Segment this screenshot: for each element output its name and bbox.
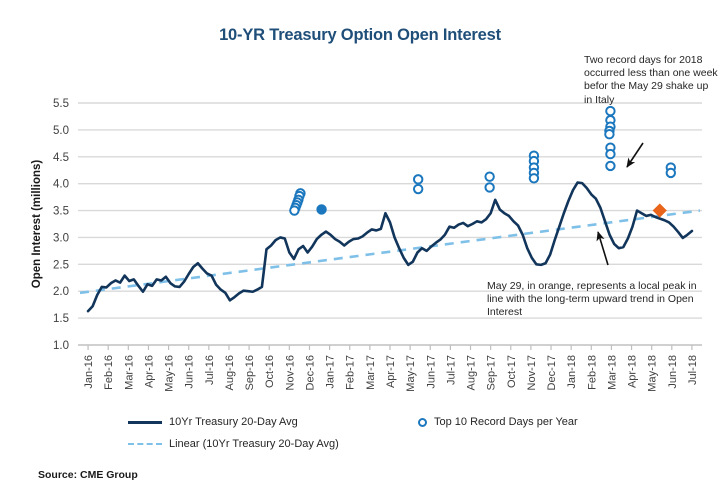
legend-item-line[interactable]: 10Yr Treasury 20-Day Avg [128, 416, 298, 428]
x-axis-tick-label: Mar-18 [606, 355, 618, 390]
y-axis-tick-label: 1.0 [53, 340, 69, 352]
x-axis-tick-label: Jan-18 [566, 355, 578, 389]
scatter-point-record-day[interactable] [667, 169, 675, 177]
x-axis-tick-label: May-18 [647, 355, 659, 392]
scatter-point-record-day[interactable] [485, 172, 493, 180]
x-axis-tick-label: Jan-17 [325, 355, 337, 389]
x-axis-tick-label: Apr-17 [385, 355, 397, 388]
y-axis-tick-label: 5.0 [53, 125, 69, 137]
scatter-point-record-day[interactable] [606, 150, 614, 158]
x-axis-tick-label: Nov-17 [526, 355, 538, 390]
x-axis-tick-label: Apr-18 [627, 355, 639, 388]
legend-scatter-label: Top 10 Record Days per Year [434, 416, 578, 428]
x-axis-tick-label: Jun-17 [425, 355, 437, 389]
x-axis-tick-label: May-16 [164, 355, 176, 392]
x-axis-tick-label: Oct-17 [506, 355, 518, 388]
legend-circle-swatch-icon [418, 418, 427, 427]
x-axis-tick-label: Sep-17 [486, 355, 498, 390]
y-axis-title: Open Interest (millions) [31, 160, 43, 289]
scatter-point-record-day[interactable] [606, 107, 614, 115]
x-axis-tick-label: Sep-16 [244, 355, 256, 390]
x-axis-tick-label: Aug-16 [224, 355, 236, 390]
y-axis-tick-label: 4.0 [53, 179, 69, 191]
x-axis-tick-label: Jul-17 [445, 355, 457, 385]
legend-trendline-label: Linear (10Yr Treasury 20-Day Avg) [169, 438, 339, 450]
x-axis-tick-label: Aug-17 [466, 355, 478, 390]
x-axis-tick-label: Mar-16 [123, 355, 135, 390]
y-axis-tick-label: 2.5 [53, 259, 69, 271]
x-axis-tick-label: Jul-16 [204, 355, 216, 385]
chart-container: 10-YR Treasury Option Open Interest 1.01… [0, 0, 720, 500]
scatter-point-record-day[interactable] [290, 206, 298, 214]
scatter-point-record-day[interactable] [414, 185, 422, 193]
scatter-point-record-day[interactable] [606, 162, 614, 170]
scatter-point-record-day[interactable] [317, 205, 325, 213]
legend-dashed-swatch-icon [128, 443, 162, 445]
x-axis-tick-label: May-17 [405, 355, 417, 392]
x-axis-tick-label: Nov-16 [284, 355, 296, 390]
x-axis-tick-label: Feb-18 [586, 355, 598, 390]
y-axis-tick-label: 3.5 [53, 206, 69, 218]
x-axis-tick-label: Jul-18 [687, 355, 699, 385]
scatter-point-record-day[interactable] [530, 174, 538, 182]
legend-line-swatch-icon [128, 421, 162, 424]
y-axis-tick-label: 3.0 [53, 232, 69, 244]
scatter-point-record-day[interactable] [414, 175, 422, 183]
legend-item-scatter[interactable]: Top 10 Record Days per Year [418, 416, 578, 428]
x-axis-tick-label: Apr-16 [143, 355, 155, 388]
x-axis-tick-label: Dec-16 [304, 355, 316, 390]
annotation-may29: May 29, in orange, represents a local pe… [487, 280, 705, 320]
x-axis-tick-label: Feb-17 [345, 355, 357, 390]
x-axis-tick-label: Mar-17 [365, 355, 377, 390]
y-axis-tick-label: 2.0 [53, 286, 69, 298]
chart-legend: 10Yr Treasury 20-Day Avg Linear (10Yr Tr… [128, 414, 628, 460]
source-note: Source: CME Group [38, 469, 138, 481]
x-axis-tick-label: Oct-16 [264, 355, 276, 388]
y-axis-tick-label: 1.5 [53, 313, 69, 325]
scatter-point-record-day[interactable] [605, 130, 613, 138]
x-axis-tick-label: Dec-17 [546, 355, 558, 390]
legend-line-label: 10Yr Treasury 20-Day Avg [169, 416, 298, 428]
highlight-marker-may29[interactable] [653, 204, 666, 217]
x-axis-tick-label: Jun-18 [667, 355, 679, 389]
legend-item-trendline[interactable]: Linear (10Yr Treasury 20-Day Avg) [128, 438, 339, 450]
x-axis-tick-label: Jan-16 [83, 355, 95, 389]
y-axis-tick-label: 5.5 [53, 98, 69, 110]
arrow-record-days [627, 143, 643, 167]
x-axis-tick-label: Feb-16 [103, 355, 115, 390]
scatter-point-record-day[interactable] [485, 183, 493, 191]
x-axis-tick-label: Jun-16 [184, 355, 196, 389]
y-axis-tick-label: 4.5 [53, 152, 69, 164]
annotation-record-days: Two record days for 2018 occurred less t… [584, 54, 719, 107]
